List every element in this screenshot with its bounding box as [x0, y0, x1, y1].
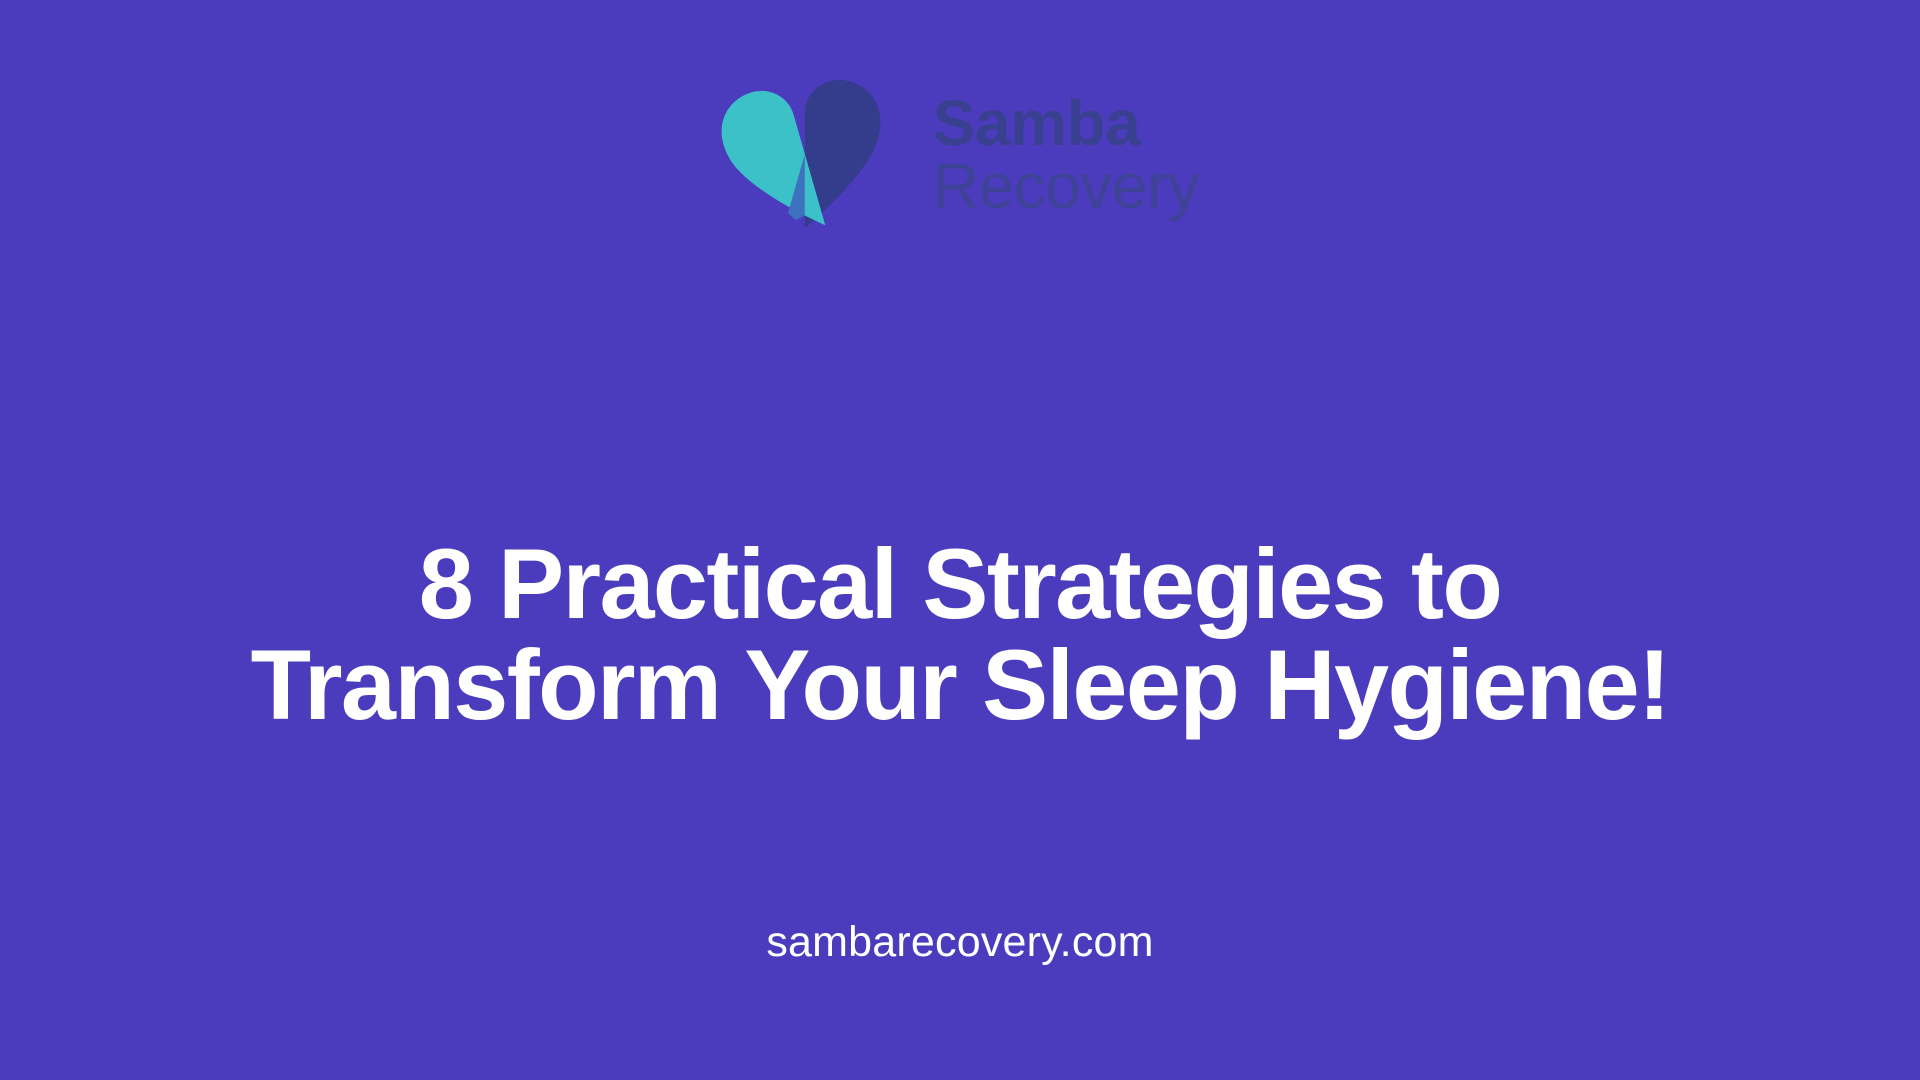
footer-website-url[interactable]: sambarecovery.com	[766, 918, 1153, 967]
split-heart-logo-icon	[721, 78, 889, 230]
brand-lockup: Samba Recovery	[721, 78, 1199, 230]
brand-wordmark: Samba Recovery	[933, 92, 1199, 217]
page-title: 8 Practical Strategies to Transform Your…	[180, 534, 1740, 736]
promo-slide: Samba Recovery 8 Practical Strategies to…	[0, 0, 1920, 1080]
headline-line-2: Transform Your Sleep Hygiene!	[180, 635, 1740, 736]
split-heart-logo-svg	[721, 78, 889, 230]
headline-line-1: 8 Practical Strategies to	[180, 534, 1740, 635]
brand-name-secondary: Recovery	[933, 155, 1199, 218]
brand-name-primary: Samba	[933, 92, 1199, 155]
